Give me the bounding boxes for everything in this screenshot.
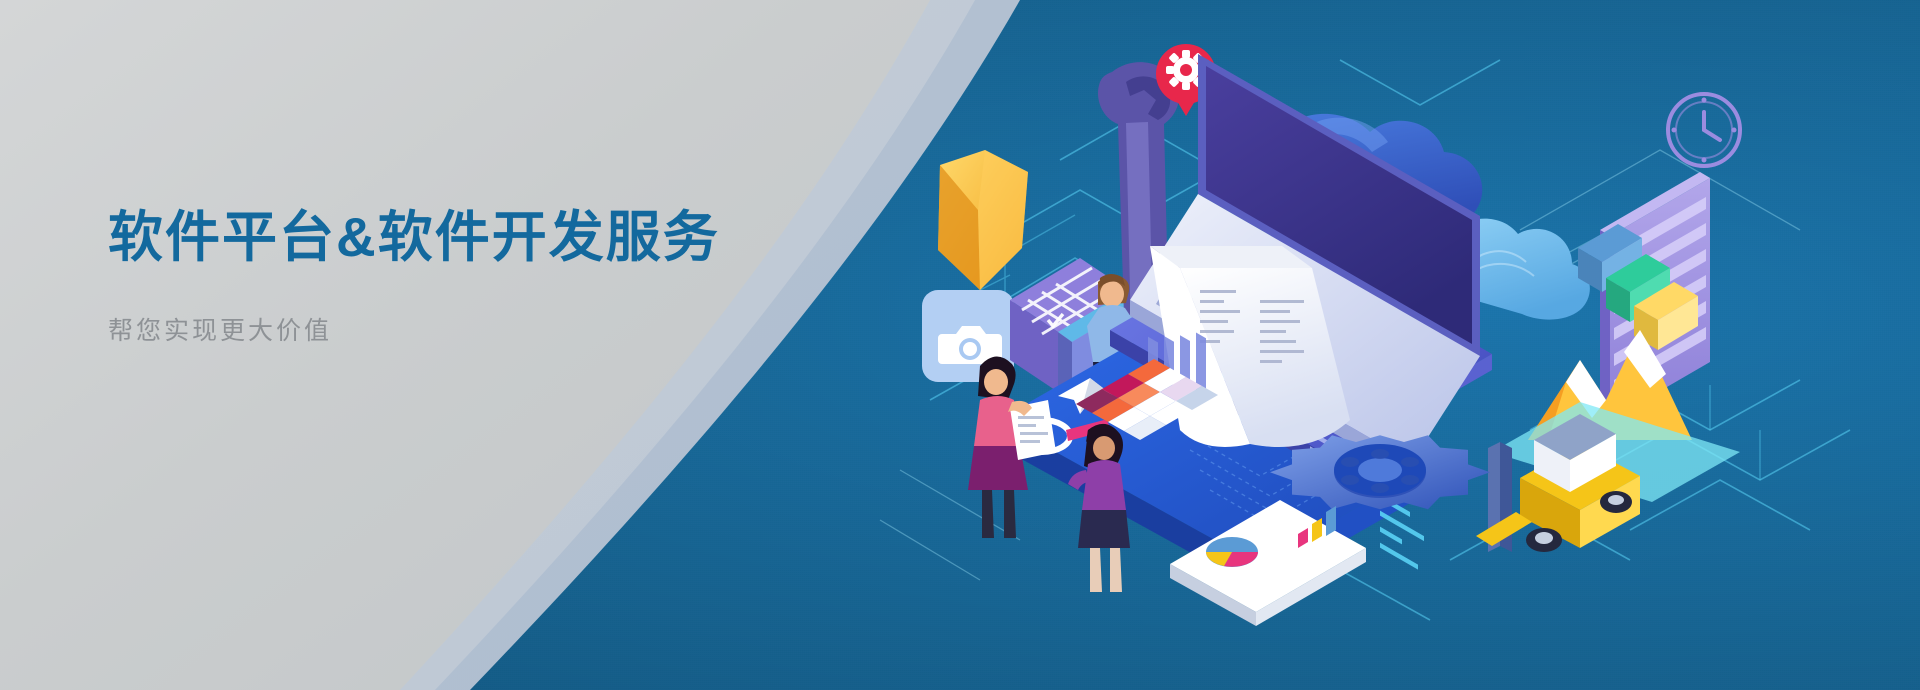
forklift-vehicle xyxy=(1476,414,1640,552)
text-block: 软件平台&软件开发服务 帮您实现更大价值 xyxy=(108,205,828,349)
page-title: 软件平台&软件开发服务 xyxy=(108,205,828,270)
hero-banner: 软件平台&软件开发服务 帮您实现更大价值 xyxy=(0,0,1920,690)
page-subtitle: 帮您实现更大价值 xyxy=(108,314,828,349)
clock-icon xyxy=(1668,94,1740,166)
